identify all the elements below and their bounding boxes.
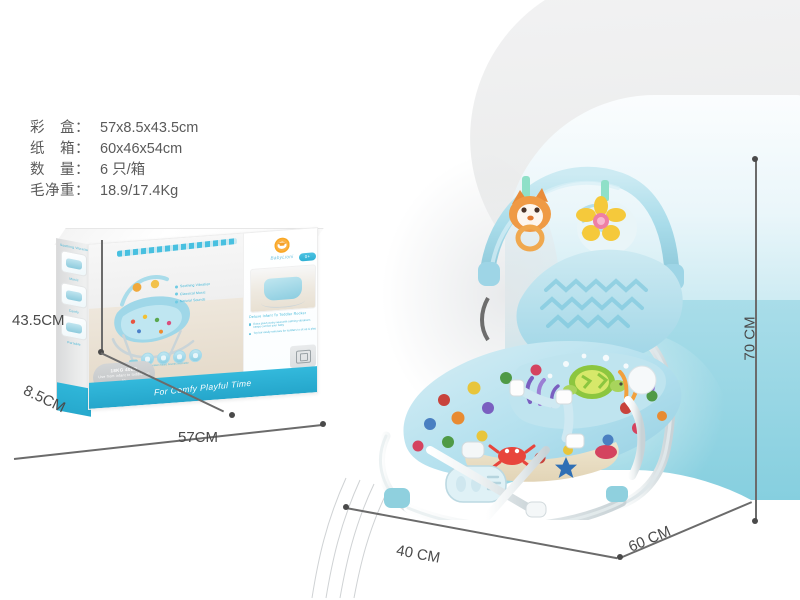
spec-row-weight: 毛净重： 18.9/17.4Kg (30, 181, 198, 202)
age-badge: 0+ (299, 252, 316, 261)
box-right-product-photo (250, 264, 316, 313)
product-image-baby-rocker (370, 150, 700, 520)
dimension-endpoint-dot (343, 504, 349, 510)
box-front-right-panel: BabyLioni 0+ Deluxe Infant To Toddler Ro… (243, 228, 318, 374)
box-front-face: Soothing Vibration Classical Music Natur… (88, 227, 318, 410)
dimension-label-box-height: 43.5CM (12, 312, 65, 329)
dimension-line-box-width (14, 424, 322, 460)
dimension-label-box-width: 57CM (178, 429, 218, 446)
spec-value: 18.9/17.4Kg (100, 181, 178, 202)
spec-row-quantity: 数 量： 6 只/箱 (30, 160, 198, 181)
specification-list: 彩 盒： 57x8.5x43.5cm 纸 箱： 60x46x54cm 数 量： … (30, 118, 198, 202)
spec-label: 纸 箱： (30, 139, 100, 160)
dimension-line-box-height (101, 240, 103, 352)
spec-value: 57x8.5x43.5cm (100, 118, 198, 139)
spec-row-carton: 纸 箱： 60x46x54cm (30, 139, 198, 160)
spec-label: 毛净重： (30, 181, 100, 202)
dimension-endpoint-dot (752, 156, 758, 162)
side-thumbnail (61, 282, 87, 309)
shell-motif (595, 445, 617, 459)
dimension-endpoint-dot (229, 412, 235, 418)
control-pod (446, 466, 506, 502)
dimension-label-product-height: 70 CM (742, 316, 759, 360)
spec-value: 60x46x54cm (100, 139, 182, 160)
certification-icon (290, 344, 316, 368)
bullet-dot-icon (175, 285, 178, 288)
bullet-dot-icon (249, 323, 251, 326)
feature-label: Natural Sounds (180, 297, 205, 303)
package-tagline: For Comfy Playful Time (154, 378, 252, 398)
spec-sheet-canvas: 彩 盒： 57x8.5x43.5cm 纸 箱： 60x46x54cm 数 量： … (0, 0, 800, 600)
right-panel-bullets: Extra plush cushy seat with calming vibr… (249, 318, 317, 338)
bullet-dot-icon (175, 300, 178, 303)
bullet-dot-icon (175, 292, 178, 295)
feature-item-sounds: Natural Sounds (175, 295, 237, 304)
side-thumbnail (61, 314, 87, 341)
feature-label: Soothing Vibration (180, 282, 210, 288)
side-thumbnail (61, 250, 87, 277)
brand-name: BabyLioni (271, 253, 294, 260)
spec-label: 数 量： (30, 160, 100, 181)
box-front-feature-list: Soothing Vibration Classical Music Natur… (175, 280, 237, 307)
brand-logo: BabyLioni (271, 237, 294, 260)
bullet-dot-icon (249, 333, 251, 336)
package-box: Soothing Vibration Music Comfy Portable (52, 228, 332, 423)
lion-icon (274, 237, 289, 253)
dimension-vertex-dot (617, 554, 623, 560)
spec-value: 6 只/箱 (100, 160, 145, 181)
dimension-endpoint-dot (320, 421, 326, 427)
dimension-endpoint-dot (752, 518, 758, 524)
feature-label: Classical Music (180, 290, 206, 296)
spec-row-colorbox: 彩 盒： 57x8.5x43.5cm (30, 118, 198, 139)
spec-label: 彩 盒： (30, 118, 100, 139)
